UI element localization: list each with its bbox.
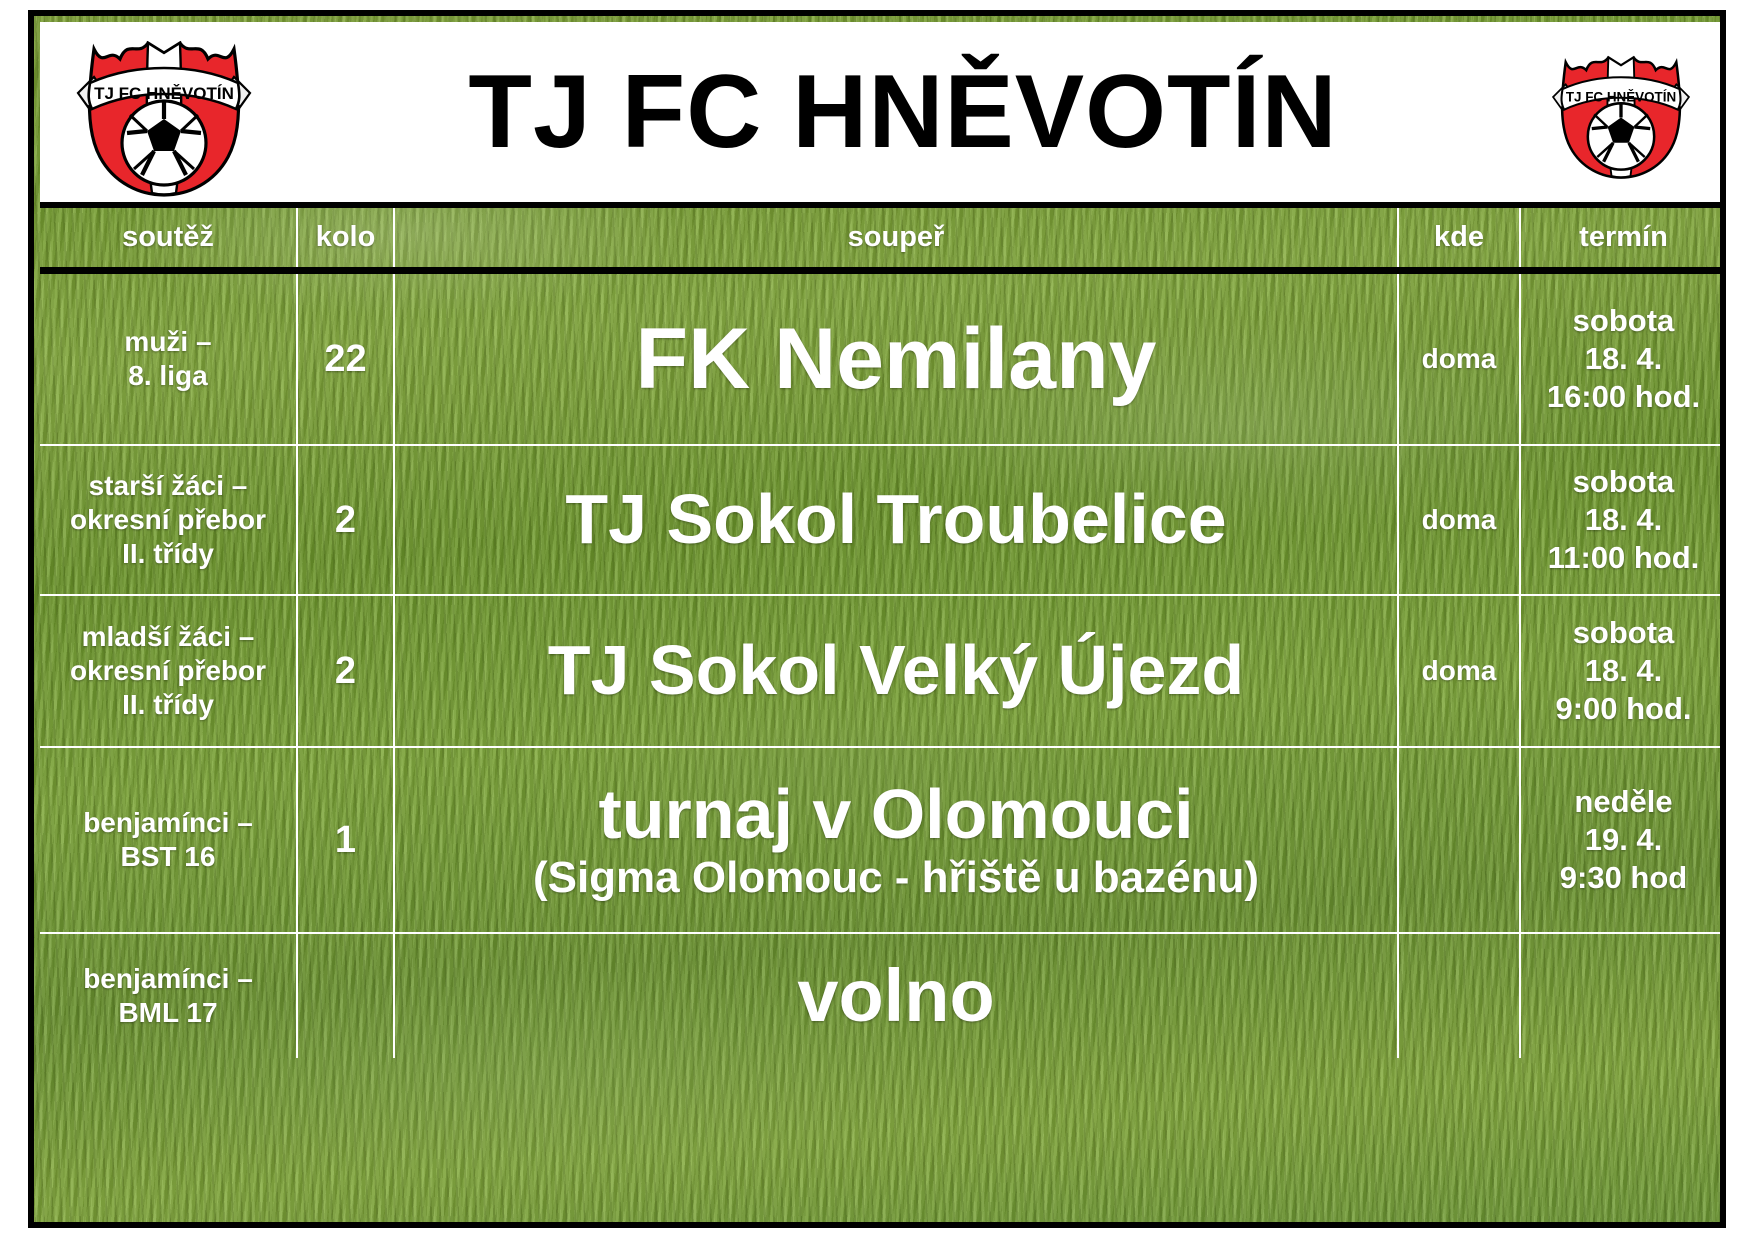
termin-line: 18. 4. xyxy=(1555,652,1691,690)
soutez-line: starší žáci – xyxy=(70,469,266,503)
cell-kolo xyxy=(298,934,395,1058)
soutez-line: BST 16 xyxy=(83,840,253,874)
column-header-soutez: soutěž xyxy=(40,208,298,267)
cell-kolo: 22 xyxy=(298,274,395,444)
cell-souper: TJ Sokol Troubelice xyxy=(395,446,1399,594)
termin-line: 18. 4. xyxy=(1547,340,1700,378)
table-row: muži – 8. liga 22 FK Nemilany doma sobot… xyxy=(40,274,1726,446)
table-row: benjamínci – BML 17 volno xyxy=(40,934,1726,1058)
cell-soutez: muži – 8. liga xyxy=(40,274,298,444)
cell-souper: FK Nemilany xyxy=(395,274,1399,444)
tj-fc-hnevotin-crest-right: TJ FC HNĚVOTÍN xyxy=(1542,37,1700,187)
opponent-name: FK Nemilany xyxy=(636,314,1157,404)
column-header-souper: soupeř xyxy=(395,208,1399,267)
termin-line: sobota xyxy=(1555,614,1691,652)
cell-kolo: 1 xyxy=(298,748,395,932)
cell-kde: doma xyxy=(1399,596,1521,746)
soutez-line: 8. liga xyxy=(124,359,211,393)
tj-fc-hnevotin-crest-left: TJ FC HNĚVOTÍN xyxy=(64,23,264,201)
termin-line: 16:00 hod. xyxy=(1547,378,1700,416)
match-schedule-table: soutěž kolo soupeř kde termín muži – 8. … xyxy=(40,208,1726,1222)
cell-termin: sobota 18. 4. 9:00 hod. xyxy=(1521,596,1726,746)
cell-souper: TJ Sokol Velký Újezd xyxy=(395,596,1399,746)
opponent-name: TJ Sokol Velký Újezd xyxy=(548,634,1244,708)
table-row: starší žáci – okresní přebor II. třídy 2… xyxy=(40,446,1726,596)
cell-termin xyxy=(1521,934,1726,1058)
cell-soutez: mladší žáci – okresní přebor II. třídy xyxy=(40,596,298,746)
football-icon xyxy=(1588,103,1654,169)
cell-termin: neděle 19. 4. 9:30 hod xyxy=(1521,748,1726,932)
termin-line: sobota xyxy=(1548,463,1700,501)
soutez-line: II. třídy xyxy=(70,688,266,722)
cell-kde: doma xyxy=(1399,446,1521,594)
soutez-line: muži – xyxy=(124,325,211,359)
cell-kde: doma xyxy=(1399,274,1521,444)
soutez-line: okresní přebor xyxy=(70,503,266,537)
cell-termin: sobota 18. 4. 11:00 hod. xyxy=(1521,446,1726,594)
opponent-name: turnaj v Olomouci xyxy=(598,778,1193,852)
table-row: benjamínci – BST 16 1 turnaj v Olomouci … xyxy=(40,748,1726,934)
match-schedule-poster: TJ FC HNĚVOTÍN TJ FC HNĚVOTÍN xyxy=(28,10,1726,1228)
cell-kde xyxy=(1399,934,1521,1058)
opponent-name: TJ Sokol Troubelice xyxy=(565,483,1226,557)
soutez-line: okresní přebor xyxy=(70,654,266,688)
termin-line: 11:00 hod. xyxy=(1548,539,1700,577)
column-header-termin: termín xyxy=(1521,208,1726,267)
opponent-venue-note: (Sigma Olomouc - hřiště u bazénu) xyxy=(533,854,1259,902)
cell-soutez: starší žáci – okresní přebor II. třídy xyxy=(40,446,298,594)
table-header-row: soutěž kolo soupeř kde termín xyxy=(40,208,1726,274)
termin-line: 18. 4. xyxy=(1548,501,1700,539)
cell-termin: sobota 18. 4. 16:00 hod. xyxy=(1521,274,1726,444)
termin-line: 9:00 hod. xyxy=(1555,690,1691,728)
termin-line: sobota xyxy=(1547,302,1700,340)
cell-kolo: 2 xyxy=(298,446,395,594)
soutez-line: mladší žáci – xyxy=(70,620,266,654)
poster-header: TJ FC HNĚVOTÍN TJ FC HNĚVOTÍN xyxy=(40,22,1726,208)
cell-kolo: 2 xyxy=(298,596,395,746)
termin-line: neděle xyxy=(1560,783,1687,821)
column-header-kde: kde xyxy=(1399,208,1521,267)
cell-kde xyxy=(1399,748,1521,932)
column-header-kolo: kolo xyxy=(298,208,395,267)
cell-souper: volno xyxy=(395,934,1399,1058)
football-icon xyxy=(122,101,206,185)
soutez-line: II. třídy xyxy=(70,537,266,571)
soutez-line: BML 17 xyxy=(83,996,253,1030)
termin-line: 19. 4. xyxy=(1560,821,1687,859)
table-row: mladší žáci – okresní přebor II. třídy 2… xyxy=(40,596,1726,748)
termin-line: 9:30 hod xyxy=(1560,859,1687,897)
cell-soutez: benjamínci – BST 16 xyxy=(40,748,298,932)
soutez-line: benjamínci – xyxy=(83,806,253,840)
opponent-name: volno xyxy=(797,957,994,1035)
soutez-line: benjamínci – xyxy=(83,962,253,996)
cell-soutez: benjamínci – BML 17 xyxy=(40,934,298,1058)
page-title: TJ FC HNĚVOTÍN xyxy=(264,60,1542,164)
cell-souper: turnaj v Olomouci (Sigma Olomouc - hřišt… xyxy=(395,748,1399,932)
